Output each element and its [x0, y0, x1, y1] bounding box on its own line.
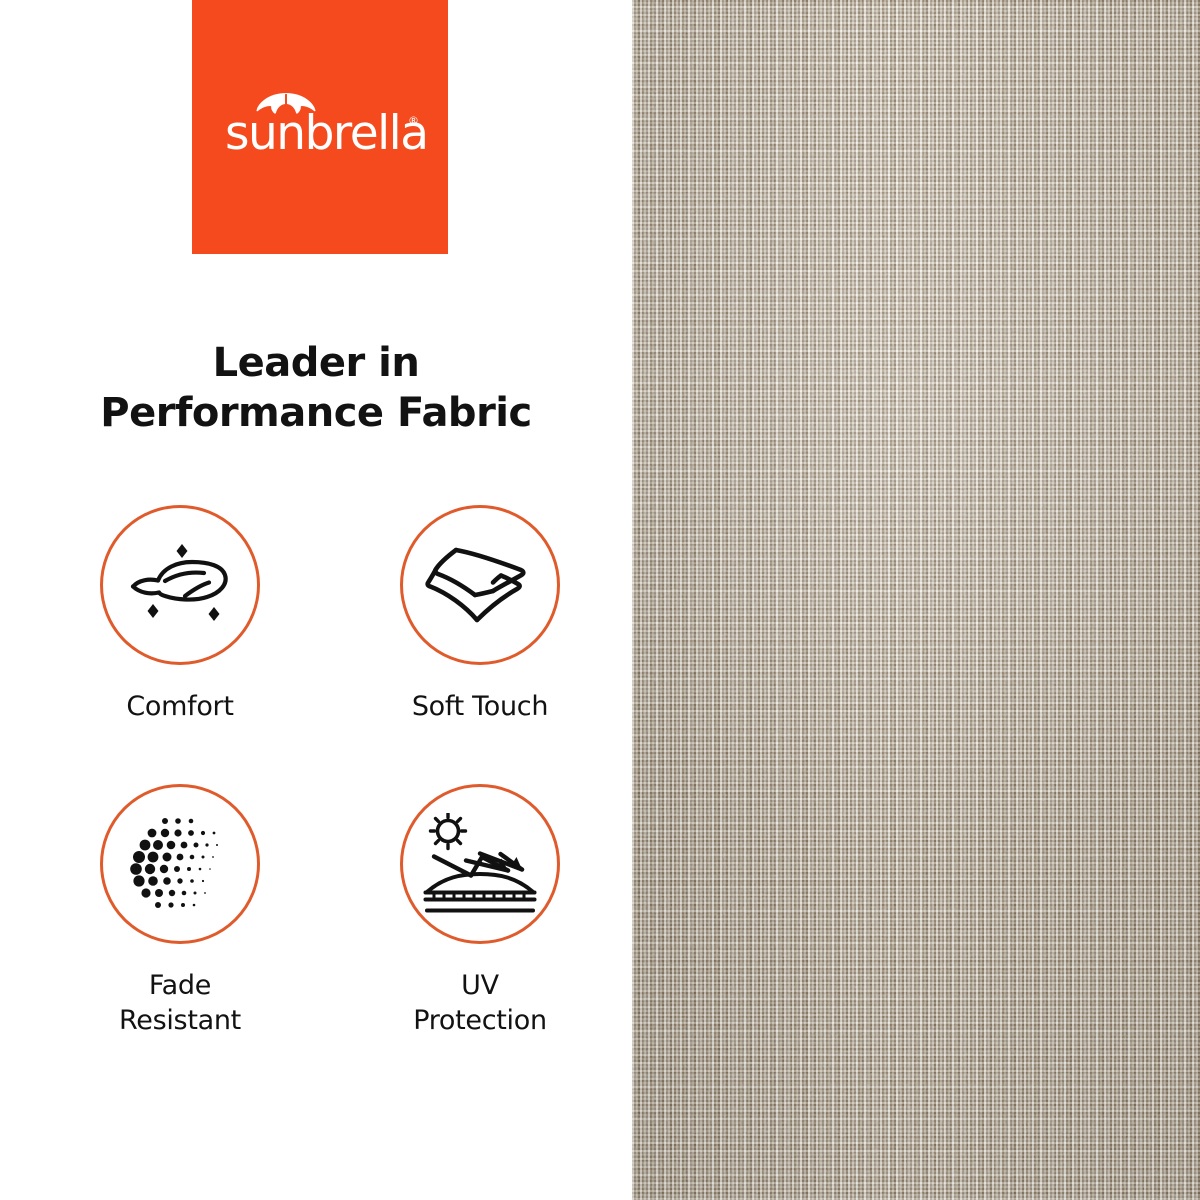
feature-label-line-2: Resistant: [119, 1003, 241, 1038]
feature-label-fade-resistant: Fade Resistant: [119, 968, 241, 1038]
feature-label-soft-touch: Soft Touch: [412, 689, 548, 724]
sun-uv-shield-icon: [422, 813, 538, 915]
feature-icon-frame: [100, 505, 260, 665]
feature-item-uv-protection: UV Protection: [330, 784, 630, 1038]
folded-fabric-icon: [425, 538, 535, 633]
feature-icon-frame: [400, 505, 560, 665]
feather-sparkle-icon: [125, 538, 235, 633]
feature-label-line-1: UV: [413, 968, 547, 1003]
page-title: Leader in Performance Fabric: [0, 338, 632, 438]
fabric-swatch-image: [632, 0, 1200, 1200]
feature-item-soft-touch: Soft Touch: [330, 505, 630, 724]
feature-label-line-1: Fade: [119, 968, 241, 1003]
brand-logo-block: sunbrella ®: [192, 0, 448, 254]
page-title-line-1: Leader in: [0, 338, 632, 388]
page-title-line-2: Performance Fabric: [0, 388, 632, 438]
feature-grid: Comfort: [30, 505, 630, 1038]
feature-icon-frame: [100, 784, 260, 944]
feature-icon-frame: [400, 784, 560, 944]
fabric-lighting-overlay: [632, 0, 1200, 1200]
product-feature-graphic: sunbrella ® Leader in Performance Fabric: [0, 0, 1200, 1200]
feature-item-fade-resistant: Fade Resistant: [30, 784, 330, 1038]
feature-label-uv-protection: UV Protection: [413, 968, 547, 1038]
feature-label-comfort: Comfort: [126, 689, 233, 724]
feature-label-line-2: Protection: [413, 1003, 547, 1038]
info-panel: sunbrella ® Leader in Performance Fabric: [0, 0, 632, 1200]
brand-wordmark: sunbrella: [225, 110, 415, 157]
registered-trademark-icon: ®: [408, 114, 419, 127]
feature-label-line-1: Comfort: [126, 689, 233, 724]
feature-item-comfort: Comfort: [30, 505, 330, 724]
halftone-dots-fade-icon: [125, 812, 235, 917]
feature-label-line-1: Soft Touch: [412, 689, 548, 724]
brand-logo-mark: sunbrella ®: [225, 92, 415, 172]
